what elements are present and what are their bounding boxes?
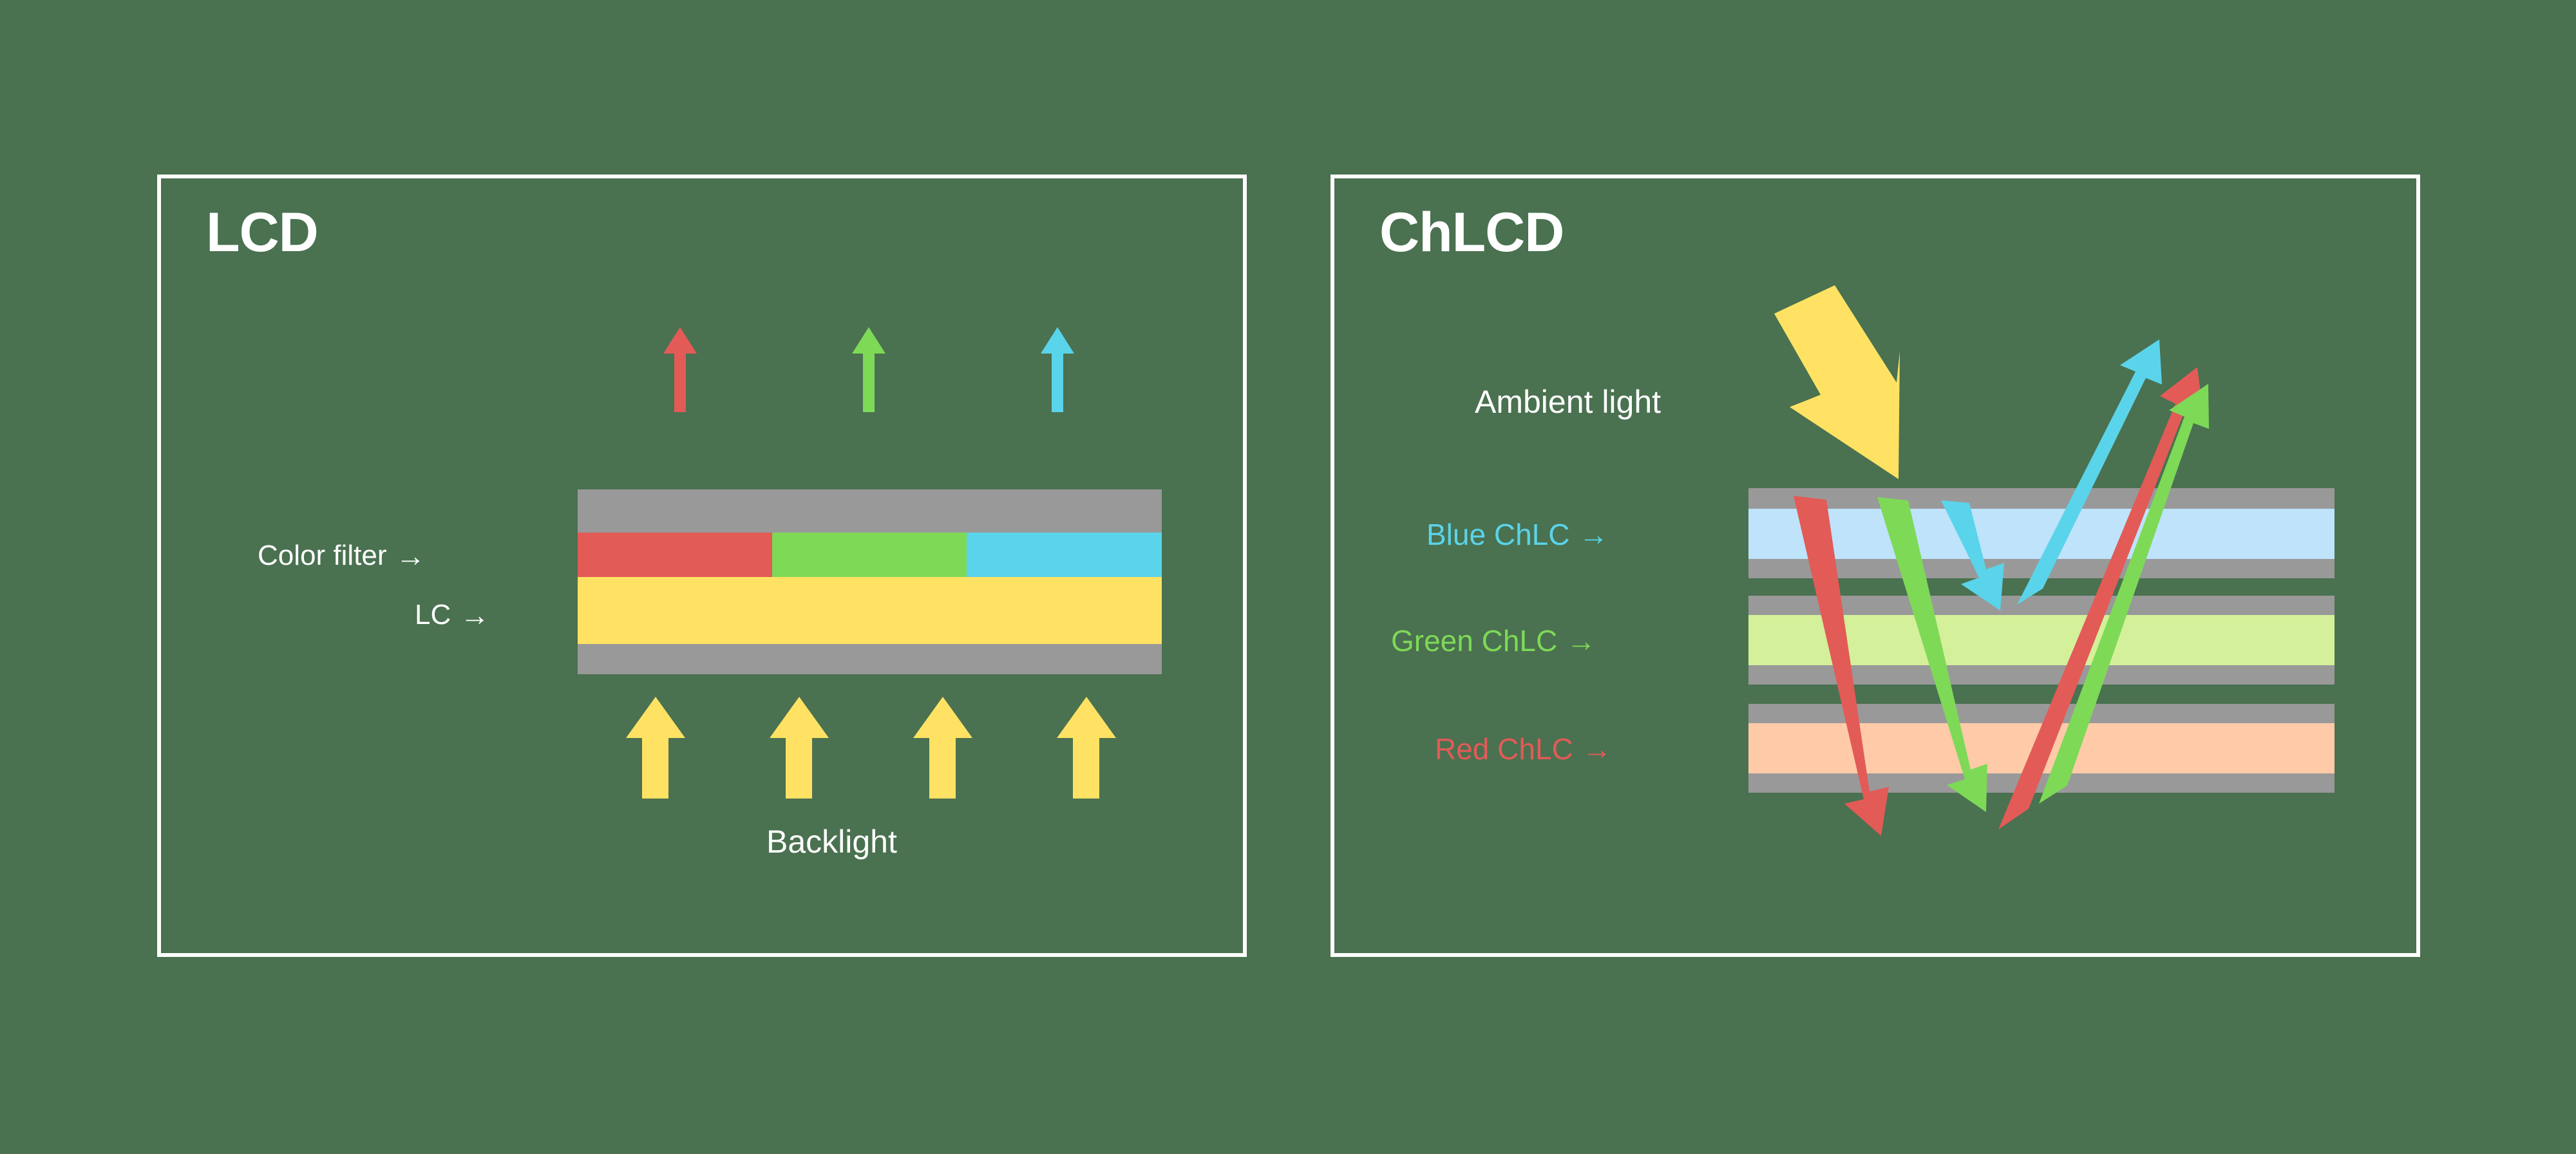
right-arrow-icon: →	[1578, 520, 1608, 549]
chlcd-layer-blue-chlc	[1748, 509, 2334, 559]
chlcd-layer-blue-substrate-top	[1748, 488, 2334, 509]
chlcd-layer-green-substrate-bottom	[1748, 665, 2334, 685]
chlcd-layer-red-chlc	[1748, 723, 2334, 773]
right-arrow-icon: →	[396, 541, 426, 571]
right-arrow-icon: →	[460, 600, 489, 630]
label-blue-chlc: Blue ChLC →	[1426, 517, 1608, 552]
chlcd-layer-red-substrate-top	[1748, 704, 2334, 723]
label-color-filter: Color filter →	[258, 540, 426, 572]
right-arrow-icon: →	[1566, 626, 1596, 656]
label-green-chlc: Green ChLC →	[1391, 623, 1596, 658]
chlcd-layer-green-substrate-top	[1748, 596, 2334, 615]
label-ambient-light: Ambient light	[1475, 383, 1661, 421]
label-red-chlc: Red ChLC →	[1435, 732, 1612, 766]
label-red-chlc-text: Red ChLC	[1435, 732, 1573, 766]
chlcd-layer-blue-substrate-bottom	[1748, 559, 2334, 578]
lcd-layer-liquid-crystal	[578, 577, 1162, 644]
label-color-filter-text: Color filter	[258, 540, 387, 572]
diagram-canvas: LCD Color filter	[0, 0, 2576, 1154]
label-blue-chlc-text: Blue ChLC	[1426, 517, 1569, 552]
lcd-layer-bottom-glass	[578, 644, 1162, 674]
chlcd-layer-green-chlc	[1748, 615, 2334, 665]
label-lc-text: LC	[415, 599, 451, 631]
right-arrow-icon: →	[1582, 734, 1612, 764]
lcd-layer-color-filter-red	[578, 533, 772, 577]
lcd-layer-top-glass	[578, 489, 1162, 533]
label-backlight: Backlight	[766, 823, 897, 860]
label-lc: LC →	[415, 599, 489, 631]
label-green-chlc-text: Green ChLC	[1391, 623, 1557, 658]
panel-title-lcd: LCD	[206, 205, 318, 260]
lcd-layer-color-filter-green	[772, 533, 967, 577]
lcd-layer-color-filter-blue	[967, 533, 1162, 577]
chlcd-layer-red-substrate-bottom	[1748, 773, 2334, 793]
panel-title-chlcd: ChLCD	[1379, 205, 1564, 260]
